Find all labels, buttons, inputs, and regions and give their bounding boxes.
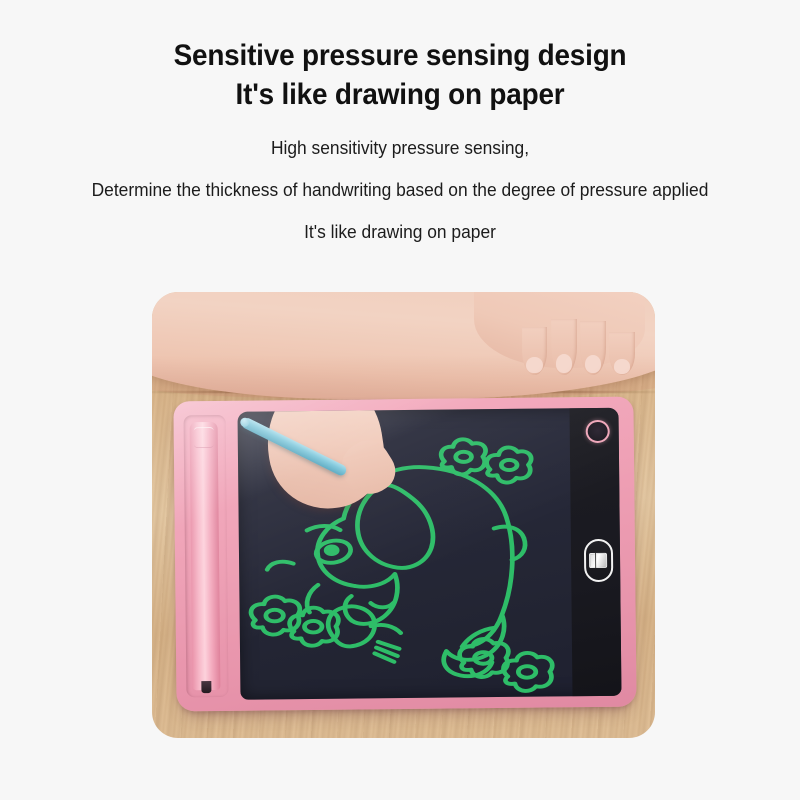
fingernail bbox=[614, 359, 630, 374]
page-title-line-1: Sensitive pressure sensing design bbox=[28, 37, 772, 74]
description-line-1: High sensitivity pressure sensing, bbox=[24, 136, 776, 159]
page-title-line-2: It's like drawing on paper bbox=[28, 76, 772, 113]
photo-inner bbox=[152, 292, 655, 738]
stylus-dock-slot bbox=[183, 415, 228, 697]
finger bbox=[551, 319, 577, 375]
description-line-3: It's like drawing on paper bbox=[24, 220, 776, 243]
fingernail bbox=[556, 354, 572, 373]
fingernail bbox=[526, 357, 542, 374]
stylus-tip bbox=[201, 682, 211, 693]
fingernail bbox=[585, 355, 601, 373]
product-photo bbox=[152, 292, 655, 738]
lcd-screen[interactable] bbox=[237, 408, 622, 700]
eraser-icon bbox=[590, 553, 608, 568]
text-block: Sensitive pressure sensing design It's l… bbox=[0, 0, 800, 243]
finger bbox=[609, 332, 635, 375]
description-line-2: Determine the thickness of handwriting b… bbox=[24, 178, 776, 201]
erase-button[interactable] bbox=[584, 539, 614, 582]
docked-pink-stylus[interactable] bbox=[189, 422, 221, 690]
finger bbox=[580, 321, 606, 375]
lcd-writing-tablet[interactable] bbox=[174, 397, 637, 712]
